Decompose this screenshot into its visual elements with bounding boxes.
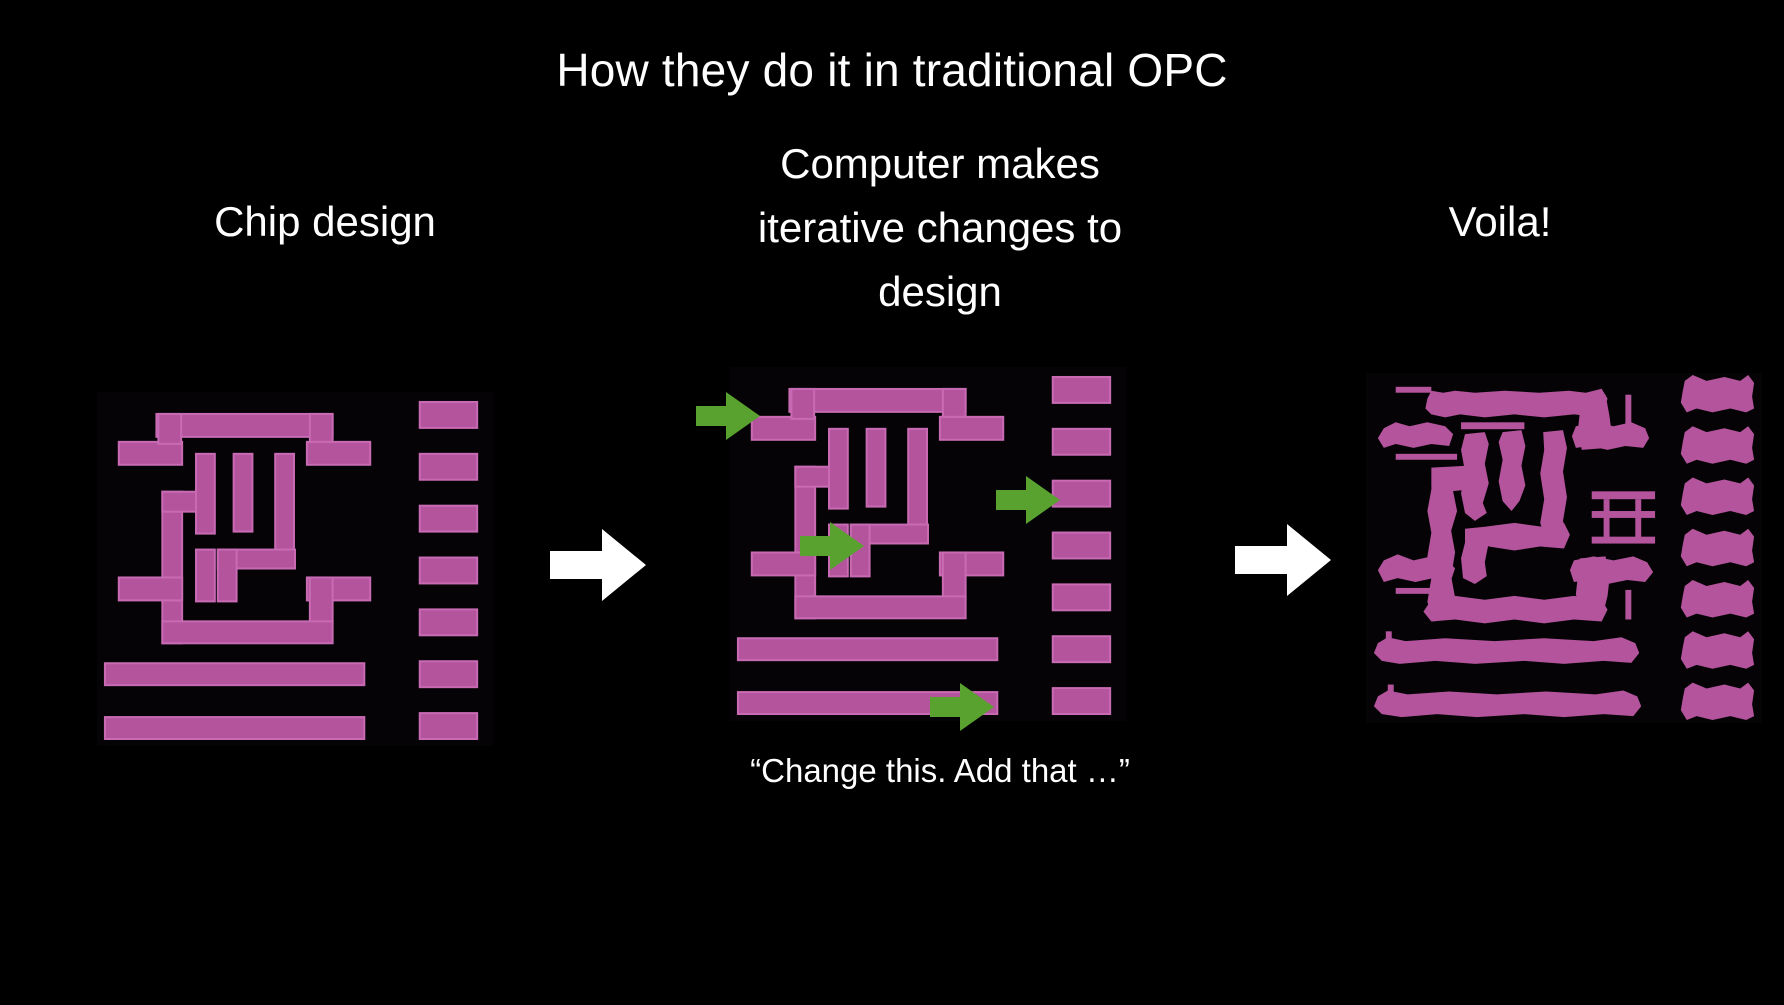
chip-design-layout-svg bbox=[97, 392, 493, 746]
arrow-right-icon bbox=[996, 474, 1060, 526]
column-heading-computer-iterates: Computer makes iterative changes to desi… bbox=[630, 132, 1250, 324]
opc-corrected-layout-image bbox=[1366, 373, 1762, 723]
iterative-edit-layout-svg bbox=[730, 367, 1126, 721]
opc-corrected-layout-svg bbox=[1366, 373, 1762, 723]
edit-arrow-right-middle bbox=[996, 474, 1060, 526]
column-heading-line: Voila! bbox=[1300, 190, 1700, 254]
column-heading-line: Computer makes bbox=[630, 132, 1250, 196]
column-heading-voila: Voila! bbox=[1300, 190, 1700, 254]
column-heading-chip-design: Chip design bbox=[60, 190, 590, 254]
iterative-edit-layout-image bbox=[730, 367, 1126, 721]
arrow-right-icon bbox=[930, 681, 994, 733]
arrow-right-icon bbox=[800, 520, 864, 572]
iteration-caption: “Change this. Add that …” bbox=[630, 750, 1250, 792]
page-title: How they do it in traditional OPC bbox=[0, 42, 1784, 98]
flow-arrow-design-to-iterate bbox=[550, 525, 646, 605]
arrow-right-icon bbox=[550, 525, 646, 605]
flow-arrow-iterate-to-result bbox=[1235, 520, 1331, 600]
column-heading-line: design bbox=[630, 260, 1250, 324]
column-heading-line: iterative changes to bbox=[630, 196, 1250, 260]
edit-arrow-center-left bbox=[800, 520, 864, 572]
edit-arrow-top-left bbox=[696, 390, 760, 442]
arrow-right-icon bbox=[1235, 520, 1331, 600]
chip-design-layout-image bbox=[97, 392, 493, 746]
slide-canvas: How they do it in traditional OPC Chip d… bbox=[0, 0, 1784, 1005]
edit-arrow-bottom bbox=[930, 681, 994, 733]
column-heading-line: Chip design bbox=[60, 190, 590, 254]
arrow-right-icon bbox=[696, 390, 760, 442]
